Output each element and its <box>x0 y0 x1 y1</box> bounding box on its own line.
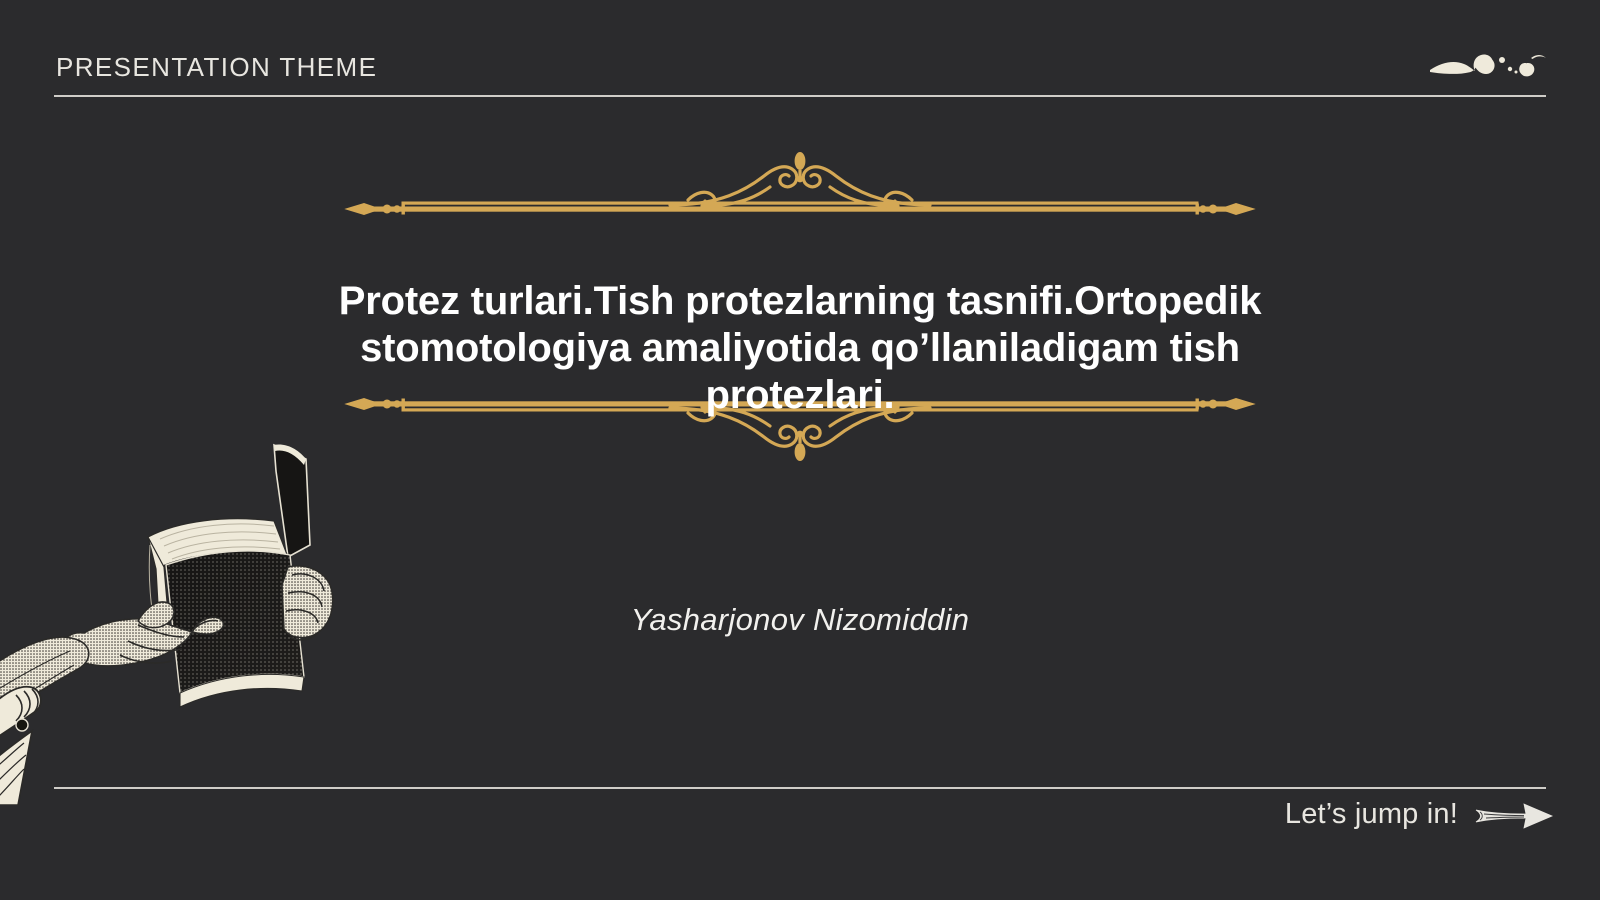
page-title: PRESENTATION THEME <box>56 52 377 83</box>
slide-title: Protez turlari.Tish protezlarning tasnif… <box>300 278 1300 418</box>
slide-title-line-2: stomotologiya amaliyotida qo’llaniladiga… <box>300 325 1300 372</box>
hands-holding-book-engraving <box>0 425 368 805</box>
sketch-arrow-right-icon[interactable] <box>1474 798 1554 834</box>
presentation-slide: PRESENTATION THEME <box>0 0 1600 900</box>
author-name: Yasharjonov Nizomiddin <box>420 602 1180 638</box>
lets-jump-in-label[interactable]: Let’s jump in! <box>1285 798 1458 831</box>
slide-title-line-1: Protez turlari.Tish protezlarning tasnif… <box>300 278 1300 325</box>
gold-scroll-divider-top <box>340 148 1260 228</box>
slide-title-line-3: protezlari. <box>300 372 1300 419</box>
swirl-flourish-icon <box>1428 44 1548 88</box>
footer-divider-rule <box>54 787 1546 789</box>
header-divider-rule <box>54 95 1546 97</box>
